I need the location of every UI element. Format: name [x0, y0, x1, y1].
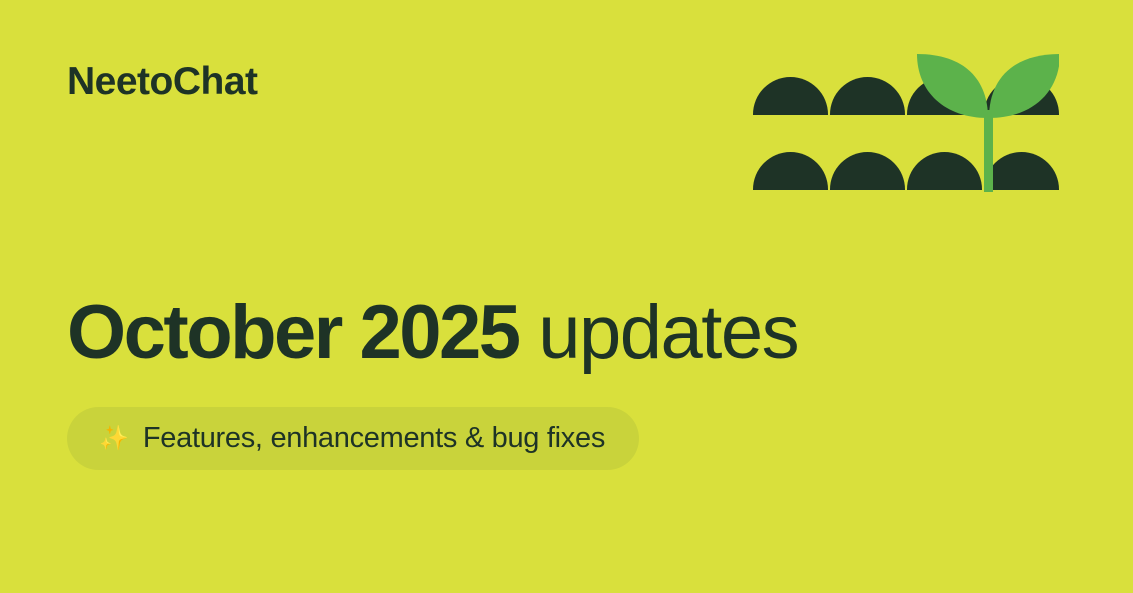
mound-row-top: [753, 77, 1059, 115]
mound: [830, 152, 905, 190]
sprout-and-mounds-illustration: [753, 40, 1059, 192]
release-notes-banner: NeetoChat October 2025 updates ✨ Feature…: [0, 0, 1133, 593]
sparkles-icon: ✨: [99, 427, 129, 451]
page-title: October 2025 updates: [67, 295, 798, 371]
brand-logo: NeetoChat: [67, 62, 258, 101]
mound: [907, 77, 982, 115]
mound: [907, 152, 982, 190]
mound: [830, 77, 905, 115]
mound: [984, 77, 1059, 115]
status-badge-label: Features, enhancements & bug fixes: [143, 424, 605, 453]
status-badge: ✨ Features, enhancements & bug fixes: [67, 407, 639, 470]
mound-row-bottom: [753, 152, 1059, 190]
mound: [984, 152, 1059, 190]
headline-bold: October 2025: [67, 290, 519, 375]
mound: [753, 152, 828, 190]
mound: [753, 77, 828, 115]
headline-light: updates: [519, 290, 799, 375]
